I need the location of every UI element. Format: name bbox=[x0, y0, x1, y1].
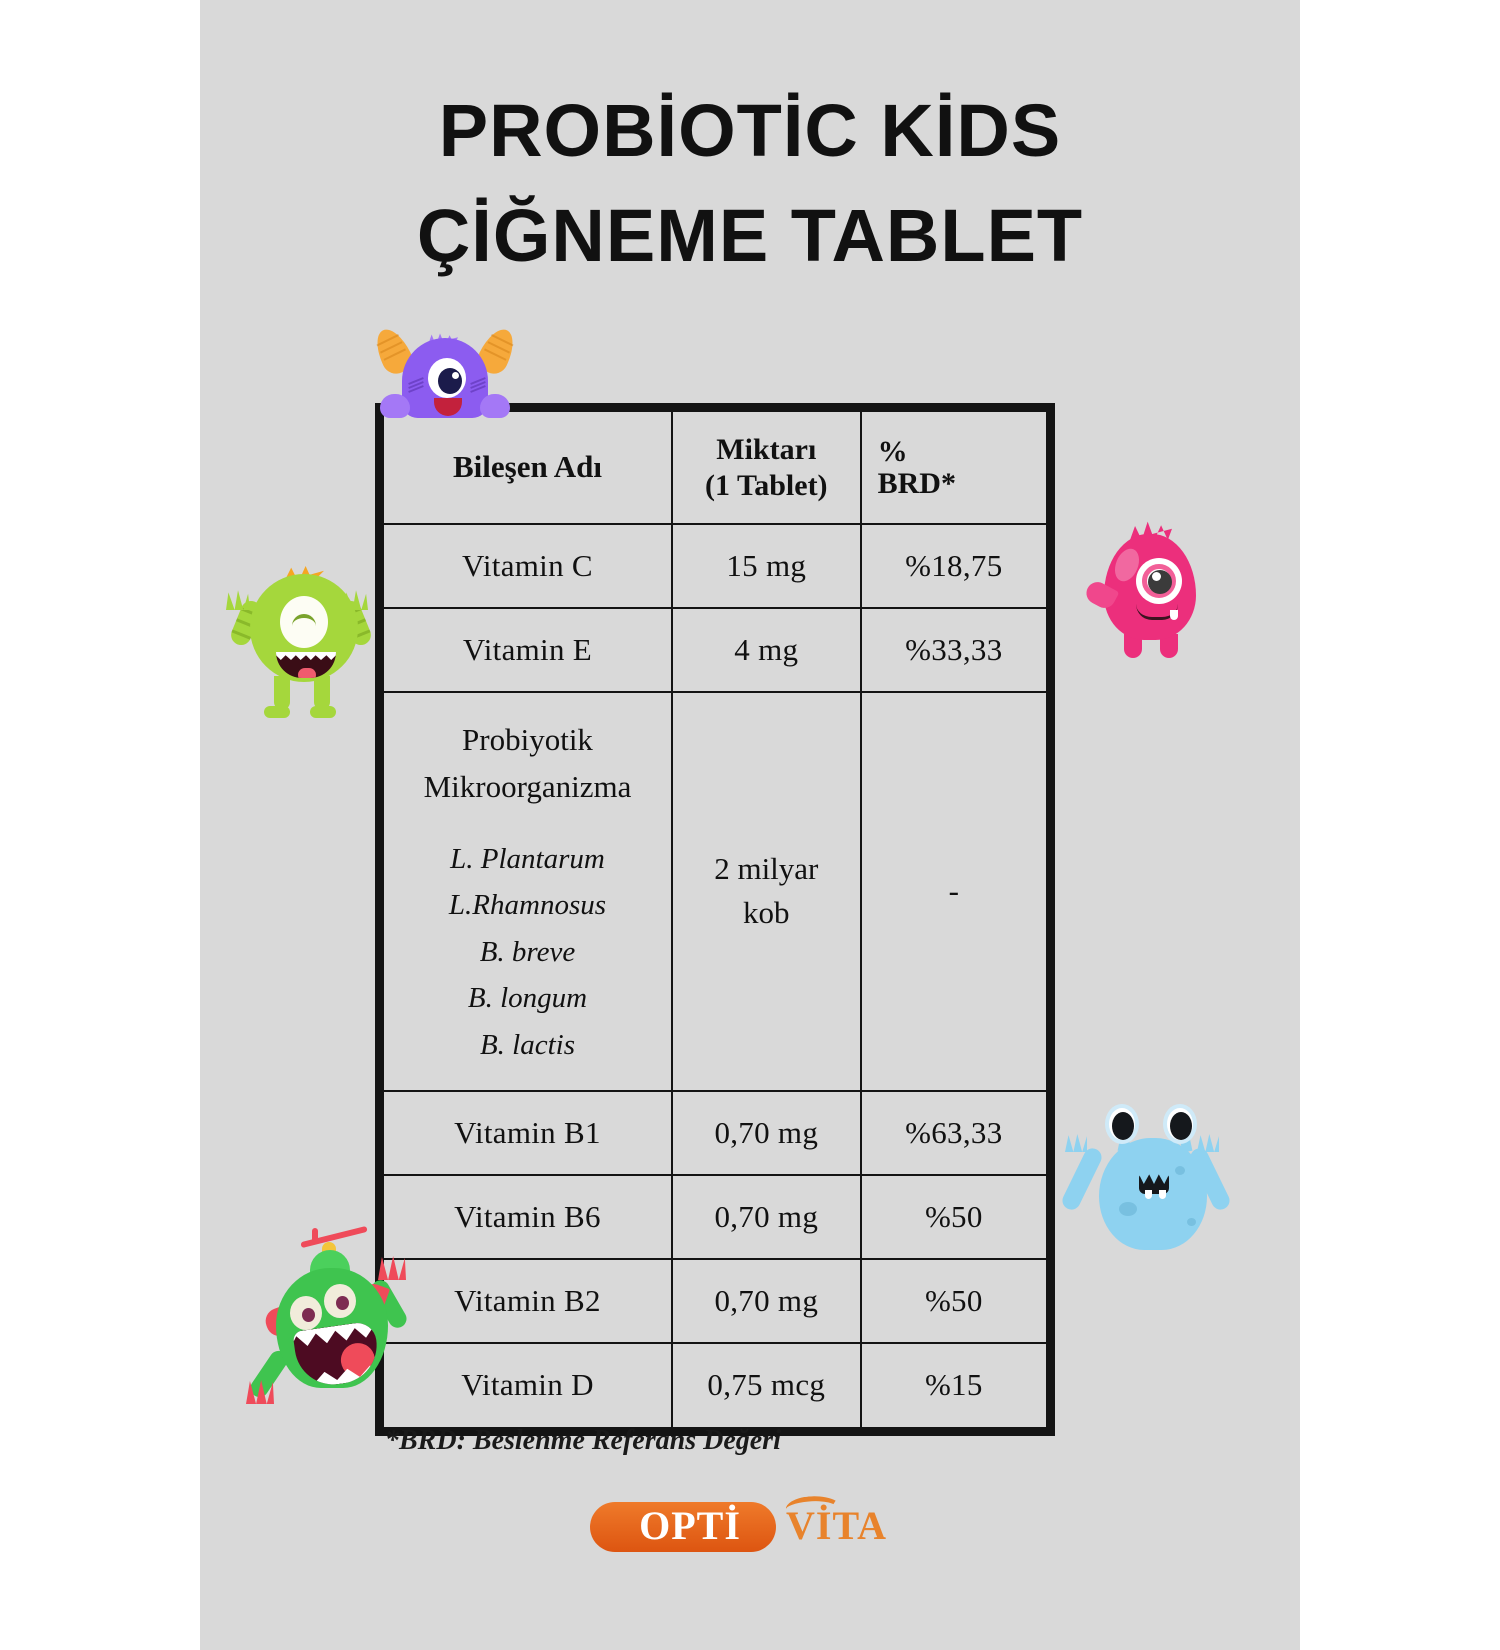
monster-pupil bbox=[438, 368, 462, 394]
table-row: Vitamin B1 0,70 mg %63,33 bbox=[384, 1091, 1046, 1175]
green-cyclops-monster-icon bbox=[218, 540, 378, 720]
ingredient-name: Vitamin B1 bbox=[384, 1091, 672, 1175]
body-spot bbox=[1175, 1166, 1185, 1175]
cheek-lines-left bbox=[408, 378, 424, 388]
monster-body bbox=[1099, 1138, 1207, 1250]
ingredient-name: Vitamin B2 bbox=[384, 1259, 672, 1343]
blue-stalk-eyed-monster-icon bbox=[1055, 1090, 1230, 1260]
monster-hand-right bbox=[480, 394, 510, 418]
ingredient-name: Vitamin C bbox=[384, 524, 672, 608]
monster-arm-left bbox=[1059, 1145, 1104, 1212]
monster-pupil-left bbox=[302, 1308, 315, 1322]
ingredient-name: Vitamin D bbox=[384, 1343, 672, 1427]
brd-footnote: *BRD: Beslenme Referans Değeri bbox=[385, 1425, 781, 1457]
probiotic-species: L.Rhamnosus bbox=[390, 882, 665, 928]
ingredient-amount: 0,70 mg bbox=[672, 1175, 861, 1259]
ingredient-amount-probiotic: 2 milyar kob bbox=[672, 692, 861, 1091]
optivita-logo: OPTİ VİTA bbox=[590, 1498, 910, 1562]
monster-pupil-left bbox=[1112, 1112, 1134, 1140]
body-spot bbox=[1119, 1202, 1137, 1216]
monster-foot-right bbox=[310, 706, 336, 718]
ingredient-name: Vitamin B6 bbox=[384, 1175, 672, 1259]
monster-leg-right bbox=[314, 676, 330, 710]
monster-hand-left bbox=[380, 394, 410, 418]
monster-claw-right bbox=[1197, 1134, 1219, 1152]
ingredient-amount: 4 mg bbox=[672, 608, 861, 692]
logo-word-text: VİTA bbox=[786, 1500, 887, 1552]
probiotic-species: L. Plantarum bbox=[390, 836, 665, 882]
pink-cyclops-monster-icon bbox=[1080, 510, 1220, 660]
ingredient-brd: %18,75 bbox=[861, 524, 1046, 608]
ingredient-brd: %15 bbox=[861, 1343, 1046, 1427]
logo-mark-text: OPTİ bbox=[604, 1500, 776, 1552]
table-row: Vitamin C 15 mg %18,75 bbox=[384, 524, 1046, 608]
table-row: Vitamin E 4 mg %33,33 bbox=[384, 608, 1046, 692]
monster-mouth bbox=[292, 1321, 381, 1390]
monster-fang bbox=[1145, 1190, 1152, 1199]
brd-header-line-1: % bbox=[878, 435, 908, 468]
probiotic-species: B. lactis bbox=[390, 1022, 665, 1068]
poster-panel: PROBİOTİC KİDS ÇİĞNEME TABLET bbox=[200, 0, 1300, 1650]
monster-claw-left bbox=[1065, 1134, 1087, 1152]
monster-leg-left bbox=[274, 676, 290, 710]
ingredient-amount: 0,75 mcg bbox=[672, 1343, 861, 1427]
purple-horned-monster-icon bbox=[370, 312, 520, 412]
ingredient-brd: %33,33 bbox=[861, 608, 1046, 692]
table-header-row: Bileşen Adı Miktarı (1 Tablet) % BRD* bbox=[384, 412, 1046, 524]
table-row: Vitamin B6 0,70 mg %50 bbox=[384, 1175, 1046, 1259]
ingredient-name: Vitamin E bbox=[384, 608, 672, 692]
page-title: PROBİOTİC KİDS ÇİĞNEME TABLET bbox=[200, 78, 1300, 288]
monster-pupil-right bbox=[1170, 1112, 1192, 1140]
ingredient-name-probiotic: Probiyotik Mikroorganizma L. Plantarum L… bbox=[384, 692, 672, 1091]
spacer bbox=[390, 810, 665, 836]
table-row: Vitamin D 0,75 mcg %15 bbox=[384, 1343, 1046, 1427]
monster-hand-left bbox=[226, 588, 250, 610]
green-propeller-monster-icon bbox=[238, 1222, 418, 1402]
propeller-stem-icon bbox=[312, 1228, 318, 1244]
body-spot bbox=[1187, 1218, 1196, 1226]
ingredient-brd: %50 bbox=[861, 1259, 1046, 1343]
monster-claw-right bbox=[378, 1256, 406, 1280]
ingredient-amount: 0,70 mg bbox=[672, 1259, 861, 1343]
table-row: Vitamin B2 0,70 mg %50 bbox=[384, 1259, 1046, 1343]
monster-teeth bbox=[276, 652, 336, 660]
monster-pupil-right bbox=[336, 1296, 349, 1310]
column-header-brd: % BRD* bbox=[861, 412, 1046, 524]
eye-glint bbox=[1152, 572, 1161, 581]
brd-header-line-2: BRD* bbox=[878, 467, 956, 500]
ingredient-brd: %63,33 bbox=[861, 1091, 1046, 1175]
probiotic-species: B. breve bbox=[390, 929, 665, 975]
monster-fang bbox=[1159, 1190, 1166, 1199]
monster-tongue bbox=[298, 668, 316, 678]
poster-page: PROBİOTİC KİDS ÇİĞNEME TABLET bbox=[0, 0, 1500, 1650]
monster-foot-left bbox=[264, 706, 290, 718]
eye-glint bbox=[452, 372, 459, 379]
monster-tooth bbox=[1170, 610, 1178, 620]
probiotic-title-line-2: Mikroorganizma bbox=[390, 764, 665, 811]
ingredients-table: Bileşen Adı Miktarı (1 Tablet) % BRD* Vi… bbox=[375, 403, 1055, 1436]
probiotic-species: B. longum bbox=[390, 975, 665, 1021]
amount-line-2: kob bbox=[743, 895, 790, 930]
column-header-amount: Miktarı (1 Tablet) bbox=[672, 412, 861, 524]
amount-header-line-1: Miktarı bbox=[716, 433, 816, 466]
ingredient-amount: 15 mg bbox=[672, 524, 861, 608]
ingredient-brd-probiotic: - bbox=[861, 692, 1046, 1091]
amount-header-line-2: (1 Tablet) bbox=[705, 469, 828, 502]
cheek-lines-right bbox=[470, 378, 486, 388]
title-line-2: ÇİĞNEME TABLET bbox=[200, 183, 1300, 288]
table-row-probiotic: Probiyotik Mikroorganizma L. Plantarum L… bbox=[384, 692, 1046, 1091]
column-header-name: Bileşen Adı bbox=[384, 412, 672, 524]
amount-line-1: 2 milyar bbox=[714, 851, 818, 886]
ingredient-brd: %50 bbox=[861, 1175, 1046, 1259]
title-line-1: PROBİOTİC KİDS bbox=[200, 78, 1300, 183]
probiotic-title-line-1: Probiyotik bbox=[390, 717, 665, 764]
ingredient-amount: 0,70 mg bbox=[672, 1091, 861, 1175]
